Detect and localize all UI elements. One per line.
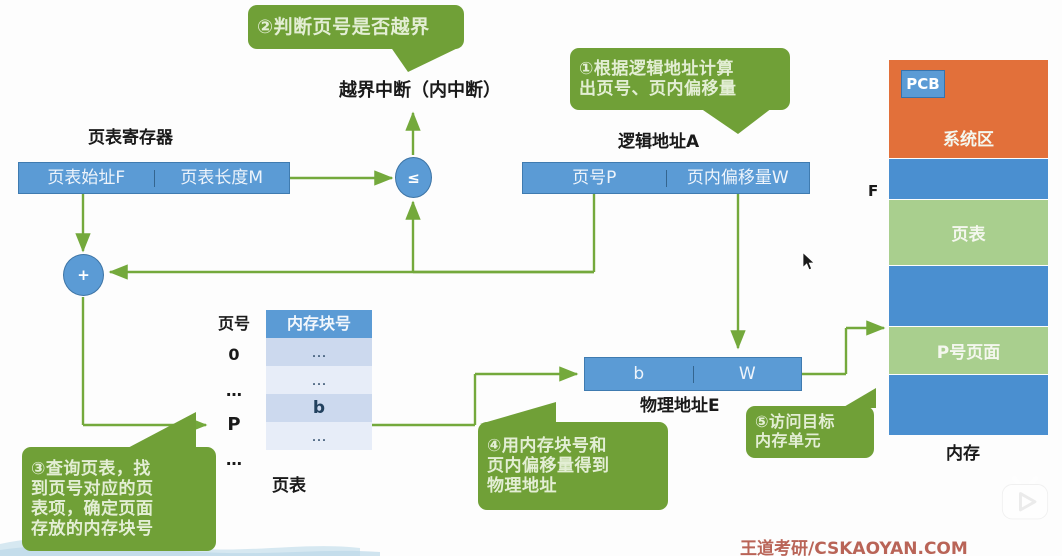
callout-4-text: ④用内存块号和 页内偏移量得到 物理地址 [487,436,659,496]
callout-judge-page-number: ②判断页号是否越界 [248,5,464,49]
logical-address-box: 页号P 页内偏移量W [522,162,810,194]
callout-access-memory-unit: ⑤访问目标 内存单元 [746,406,874,458]
watermark-text: 王道考研/CSKAOYAN.COM [740,534,968,556]
interrupt-label: 越界中断（内中断） [339,82,501,100]
logical-address-label: 逻辑地址A [618,134,699,151]
compare-operator-node: ≤ [395,157,432,198]
page-table-value-header: 内存块号 [266,310,372,338]
memory-segment-label-2: 页表 [952,220,986,245]
tail-callout-4 [480,402,556,424]
tail-callout-1 [700,108,772,134]
mouse-cursor [802,252,815,271]
compare-symbol: ≤ [407,169,420,187]
callout-compute-page-number: ①根据逻辑地址计算 出页号、页内偏移量 [570,48,790,110]
memory-segment-label-0: 系统区 [943,125,994,150]
tail-callout-3 [120,412,196,452]
callout-build-physical-address: ④用内存块号和 页内偏移量得到 物理地址 [478,422,668,510]
page-table-caption: 页表 [272,478,306,495]
page-table: 页号 内存块号 0 … … … P b … … [206,310,372,450]
page-table-register-label: 页表寄存器 [88,130,173,147]
memory-segment-page-table: 页表 [889,200,1048,265]
tail-callout-5 [842,388,876,408]
page-table-index-2: P [212,411,256,439]
diagram-canvas: ②判断页号是否越界 ①根据逻辑地址计算 出页号、页内偏移量 ③查询页表，找 到页… [0,0,1062,556]
page-table-register-box: 页表始址F 页表长度M [18,162,290,194]
add-symbol: + [77,266,90,284]
pcb-block: PCB [901,70,945,98]
field-page-table-base: 页表始址F [19,170,154,187]
memory-column: 系统区 PCB 页表 P号页面 [889,60,1048,435]
callout-2-text: ②判断页号是否越界 [257,16,455,38]
callout-5-text: ⑤访问目标 内存单元 [755,413,865,451]
field-page-offset: 页内偏移量W [666,170,810,187]
callout-query-page-table: ③查询页表，找 到页号对应的页 表项，确定页面 存放的内存块号 [22,447,216,551]
bilibili-logo-icon [996,470,1054,528]
f-marker-label: F [868,184,878,199]
page-table-row-0: … [266,338,372,366]
page-table-row-3: … [266,422,372,450]
memory-segment-free-2 [889,266,1048,326]
page-table-row-2: b [266,394,372,422]
memory-caption: 内存 [946,446,980,463]
field-block-number: b [585,366,693,383]
add-operator-node: + [63,254,104,296]
memory-segment-page-p: P号页面 [889,327,1048,374]
page-table-index-0: 0 [212,341,256,369]
field-page-number: 页号P [523,170,666,187]
field-physical-offset: W [693,366,802,383]
memory-segment-free-1 [889,159,1048,199]
page-table-row-1: … [266,366,372,394]
page-table-index-1: … [212,377,256,405]
physical-address-label: 物理地址E [640,398,720,415]
field-page-table-length: 页表长度M [154,170,290,187]
page-table-index-3: … [212,446,256,474]
pcb-label: PCB [906,75,939,93]
memory-segment-free-3 [889,375,1048,435]
memory-segment-label-4: P号页面 [937,338,1000,363]
physical-address-box: b W [584,357,802,391]
callout-3-text: ③查询页表，找 到页号对应的页 表项，确定页面 存放的内存块号 [31,459,207,539]
callout-1-text: ①根据逻辑地址计算 出页号、页内偏移量 [579,59,781,99]
tail-callout-2 [390,46,462,72]
page-table-index-header: 页号 [206,310,262,338]
